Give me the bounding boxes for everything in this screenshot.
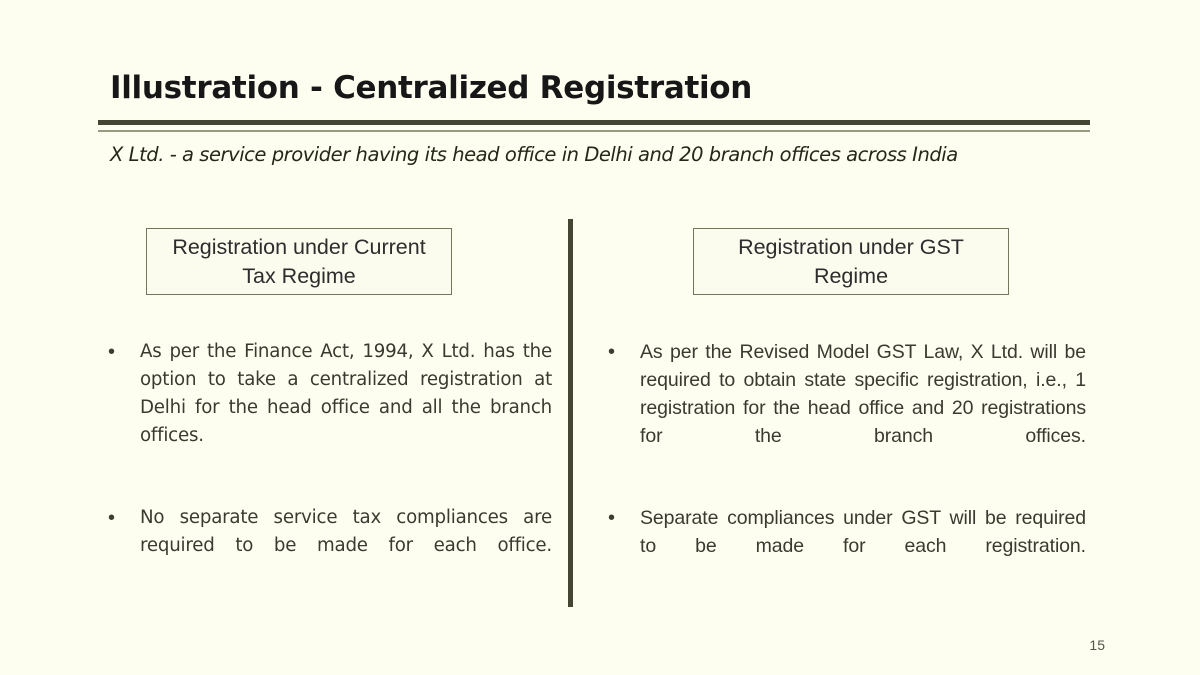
list-item: • As per the Finance Act, 1994, X Ltd. h… xyxy=(100,338,552,478)
list-item-text: No separate service tax compliances are … xyxy=(140,504,552,588)
right-column: • As per the Revised Model GST Law, X Lt… xyxy=(600,338,1086,614)
left-column: • As per the Finance Act, 1994, X Ltd. h… xyxy=(100,338,552,614)
list-item-text: As per the Revised Model GST Law, X Ltd.… xyxy=(640,338,1086,478)
page-number: 15 xyxy=(1089,637,1105,653)
title-divider-thick xyxy=(98,120,1090,125)
slide-canvas: Illustration - Centralized Registration … xyxy=(0,0,1200,675)
list-item: • No separate service tax compliances ar… xyxy=(100,504,552,588)
bullet-icon: • xyxy=(600,504,640,532)
slide-subtitle: X Ltd. - a service provider having its h… xyxy=(110,143,1110,166)
left-column-header-label: Registration under Current Tax Regime xyxy=(155,233,443,290)
column-divider xyxy=(568,219,573,607)
list-item-text: Separate compliances under GST will be r… xyxy=(640,504,1086,588)
list-item-text: As per the Finance Act, 1994, X Ltd. has… xyxy=(140,338,552,478)
bullet-icon: • xyxy=(100,338,140,366)
bullet-icon: • xyxy=(600,338,640,366)
page-title: Illustration - Centralized Registration xyxy=(110,71,1110,106)
left-column-header-box: Registration under Current Tax Regime xyxy=(146,228,452,295)
list-item: • Separate compliances under GST will be… xyxy=(600,504,1086,588)
title-divider-thin xyxy=(98,130,1090,132)
bullet-icon: • xyxy=(100,504,140,532)
list-item: • As per the Revised Model GST Law, X Lt… xyxy=(600,338,1086,478)
right-column-header-box: Registration under GST Regime xyxy=(693,228,1009,295)
right-column-header-label: Registration under GST Regime xyxy=(702,233,1000,290)
